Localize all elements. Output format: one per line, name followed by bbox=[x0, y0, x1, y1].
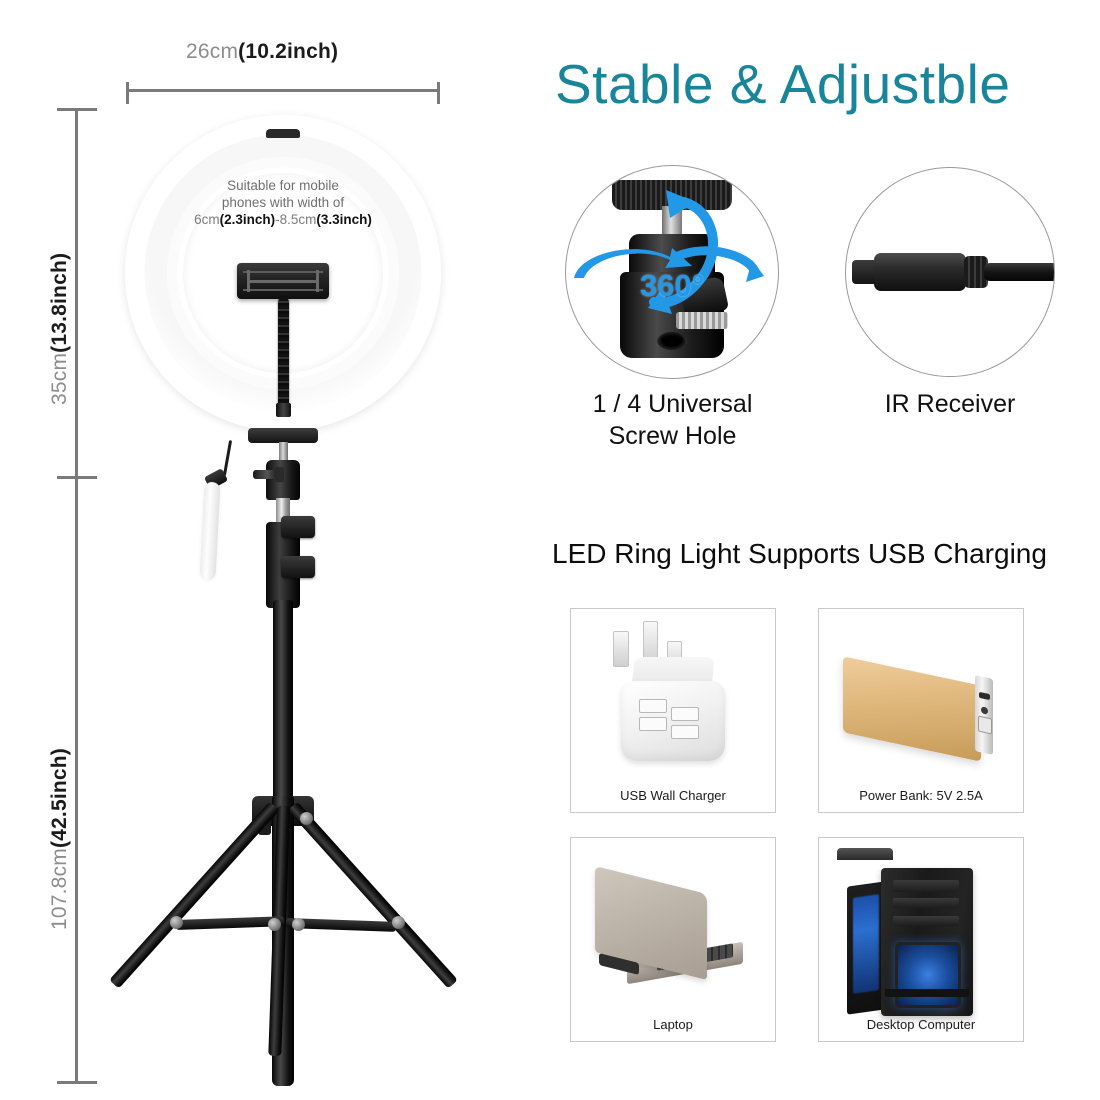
tripod-joint-right bbox=[392, 916, 405, 929]
phone-width-min-inch: (2.3inch) bbox=[220, 212, 276, 227]
desktop-computer-icon bbox=[819, 846, 1023, 1007]
ring-height-value-inch: (13.8inch) bbox=[48, 253, 71, 353]
phone-width-caption: Suitable for mobile phones with width of… bbox=[163, 177, 403, 228]
charger-usb-port-2 bbox=[639, 717, 667, 731]
height-dimension-tick-top bbox=[57, 108, 97, 111]
ring-top-connector bbox=[266, 129, 300, 138]
screw-hole-caption-line1: 1 / 4 Universal bbox=[540, 388, 805, 420]
width-dimension-label: 26cm(10.2inch) bbox=[186, 40, 338, 64]
features-panel: Stable & Adjustble 360° bbox=[520, 0, 1100, 1100]
pc-drive-bay-3 bbox=[893, 916, 959, 926]
ir-connector-barrel bbox=[874, 253, 966, 291]
screw-hole-feature-image: 360° bbox=[565, 165, 779, 379]
ball-head-lock-knob bbox=[253, 470, 279, 479]
mount-screw bbox=[279, 442, 288, 462]
screw-hole-caption-line2: Screw Hole bbox=[540, 420, 805, 452]
ir-receiver-caption: IR Receiver bbox=[840, 388, 1060, 420]
clamp-post-left bbox=[247, 270, 250, 292]
pc-side-panel bbox=[847, 881, 885, 1014]
ring-light-product-image: Suitable for mobile phones with width of… bbox=[125, 115, 441, 431]
tripod-center-column-upper bbox=[273, 600, 293, 800]
ball-head-side-screw bbox=[676, 312, 728, 329]
ring-height-value-cm: 35cm bbox=[48, 353, 71, 405]
width-dimension-line bbox=[126, 89, 440, 92]
quarter-inch-screw-hole-icon bbox=[657, 332, 687, 350]
rotation-degree-label: 360° bbox=[626, 268, 718, 304]
ir-receiver-feature-image bbox=[845, 167, 1055, 377]
charger-usb-port-3 bbox=[671, 707, 699, 721]
product-label-power-bank: Power Bank: 5V 2.5A bbox=[859, 788, 983, 804]
ring-height-dimension-label: 35cm(13.8inch) bbox=[48, 253, 72, 405]
charger-pin-1 bbox=[613, 631, 629, 667]
height-dimension-tick-bottom bbox=[57, 1081, 97, 1084]
product-card-laptop: Laptop bbox=[570, 837, 776, 1042]
phone-width-max-inch: (3.3inch) bbox=[316, 212, 372, 227]
tripod-leg-right bbox=[288, 802, 458, 989]
pc-drive-bay-2 bbox=[893, 898, 959, 908]
charger-usb-port-4 bbox=[671, 725, 699, 739]
usb-power-cable bbox=[200, 440, 246, 580]
height-lock-knob-lower bbox=[281, 556, 315, 578]
product-label-usb-wall-charger: USB Wall Charger bbox=[620, 788, 726, 804]
clamp-jaw-bottom bbox=[243, 289, 323, 291]
gooseneck-collar bbox=[276, 403, 291, 417]
pc-side-window-led bbox=[853, 894, 879, 994]
pc-feet bbox=[885, 989, 969, 997]
pc-front-fan-led bbox=[895, 942, 961, 1008]
stand-height-value-inch: (42.5inch) bbox=[48, 748, 71, 848]
phone-width-caption-line3: 6cm(2.3inch)-8.5cm(3.3inch) bbox=[163, 211, 403, 228]
tripod-leg-left bbox=[109, 802, 279, 989]
ir-cable-wire bbox=[984, 263, 1055, 281]
width-value-cm: 26cm bbox=[186, 40, 238, 63]
product-card-desktop-computer: Desktop Computer bbox=[818, 837, 1024, 1042]
tripod-joint-center-left bbox=[268, 918, 281, 931]
phone-width-caption-line2: phones with width of bbox=[163, 194, 403, 211]
compatible-devices-grid: USB Wall Charger Power Bank: 5V 2.5A Lap… bbox=[570, 608, 1068, 1042]
page-title: Stable & Adjustble bbox=[555, 52, 1010, 116]
power-bank-usb-port bbox=[978, 716, 992, 735]
laptop-icon bbox=[571, 846, 775, 1007]
phone-holder-clamp bbox=[237, 263, 329, 299]
pc-top-panel bbox=[837, 848, 893, 860]
tripod-joint-hub-right bbox=[300, 812, 313, 825]
screw-hole-caption: 1 / 4 Universal Screw Hole bbox=[540, 388, 805, 452]
ir-receiver-caption-line1: IR Receiver bbox=[840, 388, 1060, 420]
charger-usb-port-1 bbox=[639, 699, 667, 713]
pc-drive-bay-1 bbox=[893, 880, 959, 892]
product-card-power-bank: Power Bank: 5V 2.5A bbox=[818, 608, 1024, 813]
width-value-inch: (10.2inch) bbox=[238, 40, 338, 63]
product-card-usb-wall-charger: USB Wall Charger bbox=[570, 608, 776, 813]
clamp-post-right bbox=[316, 270, 319, 292]
cable-white-cord bbox=[199, 482, 220, 581]
cable-wire bbox=[223, 440, 232, 476]
clamp-jaw-top bbox=[243, 271, 323, 273]
ring-mount-plate bbox=[248, 428, 318, 443]
height-lock-knob-upper bbox=[281, 516, 315, 538]
phone-width-caption-line1: Suitable for mobile bbox=[163, 177, 403, 194]
product-label-laptop: Laptop bbox=[653, 1017, 693, 1033]
width-dimension-tick-left bbox=[126, 82, 129, 104]
charger-body bbox=[621, 681, 725, 761]
clamp-jaw-middle bbox=[247, 280, 319, 283]
phone-width-max-cm: 8.5cm bbox=[280, 212, 317, 227]
product-label-desktop-computer: Desktop Computer bbox=[867, 1017, 975, 1033]
stand-height-dimension-label: 107.8cm(42.5inch) bbox=[48, 748, 72, 930]
phone-width-min-cm: 6cm bbox=[194, 212, 220, 227]
height-dimension-line bbox=[75, 108, 78, 1084]
tripod-joint-center-right bbox=[292, 918, 305, 931]
power-bank-body bbox=[843, 656, 981, 761]
flexible-gooseneck-arm bbox=[278, 297, 289, 409]
tripod-joint-left bbox=[170, 916, 183, 929]
height-dimension-tick-middle bbox=[57, 476, 97, 479]
stand-height-value-cm: 107.8cm bbox=[48, 848, 71, 930]
usb-charging-heading: LED Ring Light Supports USB Charging bbox=[552, 538, 1047, 570]
power-bank-icon bbox=[819, 617, 1023, 778]
product-dimension-panel: 26cm(10.2inch) 35cm(13.8inch) 107.8cm(42… bbox=[0, 0, 520, 1100]
usb-wall-charger-icon bbox=[571, 617, 775, 778]
width-dimension-tick-right bbox=[437, 82, 440, 104]
